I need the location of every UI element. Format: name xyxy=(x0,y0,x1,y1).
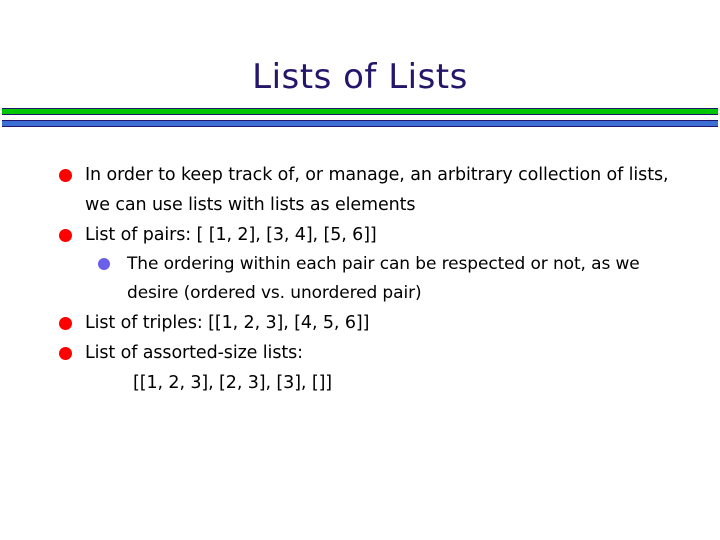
sub-bullet-marker-icon xyxy=(98,258,110,270)
bullet-text: List of triples: [[1, 2, 3], [4, 5, 6]] xyxy=(85,308,690,338)
slide-title: Lists of Lists xyxy=(0,56,720,98)
bullet-item: In order to keep track of, or manage, an… xyxy=(0,160,720,220)
slide: Lists of Lists In order to keep track of… xyxy=(0,0,720,540)
divider-rule-green xyxy=(2,108,718,115)
divider-rule-blue xyxy=(2,120,718,127)
bullet-continuation-row: [[1, 2, 3], [2, 3], [3], []] xyxy=(0,368,720,398)
bullet-marker-icon xyxy=(59,347,72,360)
bullet-marker-icon xyxy=(59,317,72,330)
bullet-item: List of triples: [[1, 2, 3], [4, 5, 6]] xyxy=(0,308,720,338)
bullet-marker-icon xyxy=(59,169,72,182)
title-divider xyxy=(2,108,718,130)
bullet-marker-icon xyxy=(59,229,72,242)
bullet-text: List of assorted-size lists: xyxy=(85,338,690,368)
bullet-text: List of pairs: [ [1, 2], [3, 4], [5, 6]] xyxy=(85,220,690,250)
sub-bullet-item: The ordering within each pair can be res… xyxy=(0,250,720,308)
bullet-text: In order to keep track of, or manage, an… xyxy=(85,160,690,220)
bullet-item: List of assorted-size lists: xyxy=(0,338,720,368)
slide-body: In order to keep track of, or manage, an… xyxy=(0,160,720,398)
sub-bullet-text: The ordering within each pair can be res… xyxy=(127,250,696,308)
bullet-item: List of pairs: [ [1, 2], [3, 4], [5, 6]] xyxy=(0,220,720,250)
bullet-continuation-text: [[1, 2, 3], [2, 3], [3], []] xyxy=(0,368,720,398)
